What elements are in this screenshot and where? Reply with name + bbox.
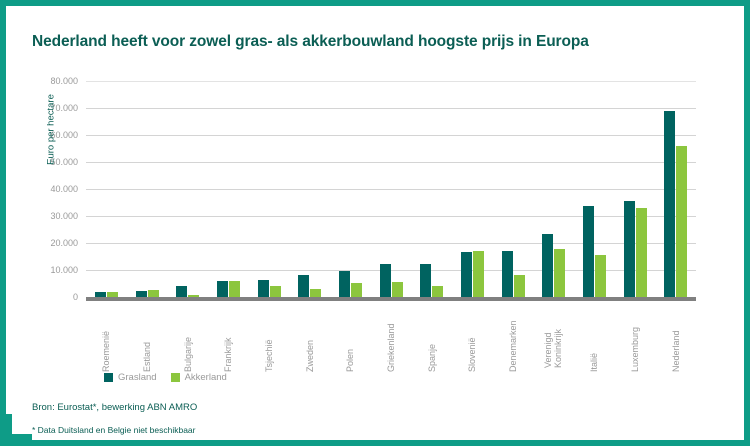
- bar-akkerland: [392, 282, 403, 297]
- bar-group: [249, 81, 290, 297]
- x-tick-label: Nederland: [671, 302, 681, 372]
- x-tick-label: Zweden: [305, 302, 315, 372]
- bar-grasland: [217, 281, 228, 297]
- bar-grasland: [664, 111, 675, 297]
- bar-grasland: [298, 275, 309, 297]
- x-tick-label: Tsjechië: [264, 302, 274, 372]
- bar-akkerland: [514, 275, 525, 297]
- x-label-cell: Denemarken: [493, 302, 534, 372]
- bar-grasland: [502, 251, 513, 297]
- bar-akkerland: [107, 292, 118, 297]
- bar-grasland: [258, 280, 269, 297]
- x-label-cell: Bulgarije: [167, 302, 208, 372]
- bar-grasland: [583, 206, 594, 297]
- x-tick-label: Verenigd Koninkrijk: [543, 302, 565, 368]
- x-tick-label: Frankrijk: [223, 302, 233, 372]
- x-tick-label: Italië: [589, 302, 599, 372]
- bar-akkerland: [554, 249, 565, 297]
- x-label-cell: Verenigd Koninkrijk: [533, 302, 574, 372]
- bar-group: [533, 81, 574, 297]
- x-tick-label: Griekenland: [386, 302, 396, 372]
- bar-grasland: [95, 292, 106, 297]
- x-tick-label: Slovenië: [467, 302, 477, 372]
- chart-legend: Grasland Akkerland: [104, 372, 227, 383]
- bar-akkerland: [636, 208, 647, 297]
- chart-card: Nederland heeft voor zowel gras- als akk…: [6, 6, 744, 440]
- bar-grasland: [176, 286, 187, 297]
- bar-group: [167, 81, 208, 297]
- footnote-text: * Data Duitsland en Belgie niet beschikb…: [32, 425, 196, 435]
- bar-akkerland: [229, 281, 240, 297]
- x-tick-label: Estland: [142, 302, 152, 372]
- y-tick-label: 0: [18, 292, 78, 302]
- y-tick-label: 30.000: [18, 211, 78, 221]
- x-label-cell: Nederland: [655, 302, 696, 372]
- bar-akkerland: [473, 251, 484, 297]
- legend-swatch-icon-akkerland: [171, 373, 180, 382]
- bar-grasland: [339, 271, 350, 297]
- bar-group: [452, 81, 493, 297]
- bar-group: [208, 81, 249, 297]
- bar-group: [493, 81, 534, 297]
- x-tick-label: Roemenië: [101, 302, 111, 372]
- y-axis-label: Euro per hectare: [46, 70, 57, 190]
- x-label-cell: Zweden: [289, 302, 330, 372]
- bar-group: [655, 81, 696, 297]
- corner-notch-inner: [12, 414, 32, 434]
- y-tick-label: 20.000: [18, 238, 78, 248]
- x-axis-labels: RoemeniëEstlandBulgarijeFrankrijkTsjechi…: [86, 302, 696, 372]
- bar-akkerland: [148, 290, 159, 297]
- bar-akkerland: [432, 286, 443, 297]
- x-tick-label: Bulgarije: [183, 302, 193, 372]
- bar-akkerland: [270, 286, 281, 297]
- x-label-cell: Polen: [330, 302, 371, 372]
- x-label-cell: Frankrijk: [208, 302, 249, 372]
- bar-grasland: [136, 291, 147, 297]
- x-label-cell: Roemenië: [86, 302, 127, 372]
- bar-grasland: [420, 264, 431, 297]
- bar-group: [574, 81, 615, 297]
- bar-akkerland: [188, 295, 199, 297]
- x-label-cell: Griekenland: [371, 302, 412, 372]
- bar-group: [371, 81, 412, 297]
- x-tick-label: Luxemburg: [630, 302, 640, 372]
- x-label-cell: Slovenië: [452, 302, 493, 372]
- bar-grasland: [461, 252, 472, 297]
- legend-label-grasland: Grasland: [118, 372, 157, 383]
- corner-notch: [6, 414, 32, 440]
- bar-grasland: [624, 201, 635, 297]
- bar-grasland: [542, 234, 553, 297]
- bar-grasland: [380, 264, 391, 297]
- legend-item-akkerland: Akkerland: [171, 372, 227, 383]
- y-tick-label: 10.000: [18, 265, 78, 275]
- x-label-cell: Estland: [127, 302, 168, 372]
- source-text: Bron: Eurostat*, bewerking ABN AMRO: [32, 402, 197, 413]
- x-label-cell: Tsjechië: [249, 302, 290, 372]
- x-tick-label: Denemarken: [508, 302, 518, 372]
- bar-group: [330, 81, 371, 297]
- legend-swatch-icon-grasland: [104, 373, 113, 382]
- x-label-cell: Italië: [574, 302, 615, 372]
- bar-groups: [86, 81, 696, 297]
- x-label-cell: Luxemburg: [615, 302, 656, 372]
- bar-akkerland: [595, 255, 606, 297]
- legend-label-akkerland: Akkerland: [185, 372, 227, 383]
- bar-akkerland: [676, 146, 687, 297]
- x-label-cell: Spanje: [411, 302, 452, 372]
- legend-item-grasland: Grasland: [104, 372, 157, 383]
- chart-title: Nederland heeft voor zowel gras- als akk…: [32, 33, 589, 51]
- bar-group: [411, 81, 452, 297]
- bar-group: [615, 81, 656, 297]
- bar-group: [86, 81, 127, 297]
- x-tick-label: Polen: [345, 302, 355, 372]
- bar-group: [289, 81, 330, 297]
- bar-akkerland: [351, 283, 362, 297]
- x-axis-baseline: [86, 297, 696, 301]
- bar-akkerland: [310, 289, 321, 297]
- x-tick-label: Spanje: [427, 302, 437, 372]
- bar-group: [127, 81, 168, 297]
